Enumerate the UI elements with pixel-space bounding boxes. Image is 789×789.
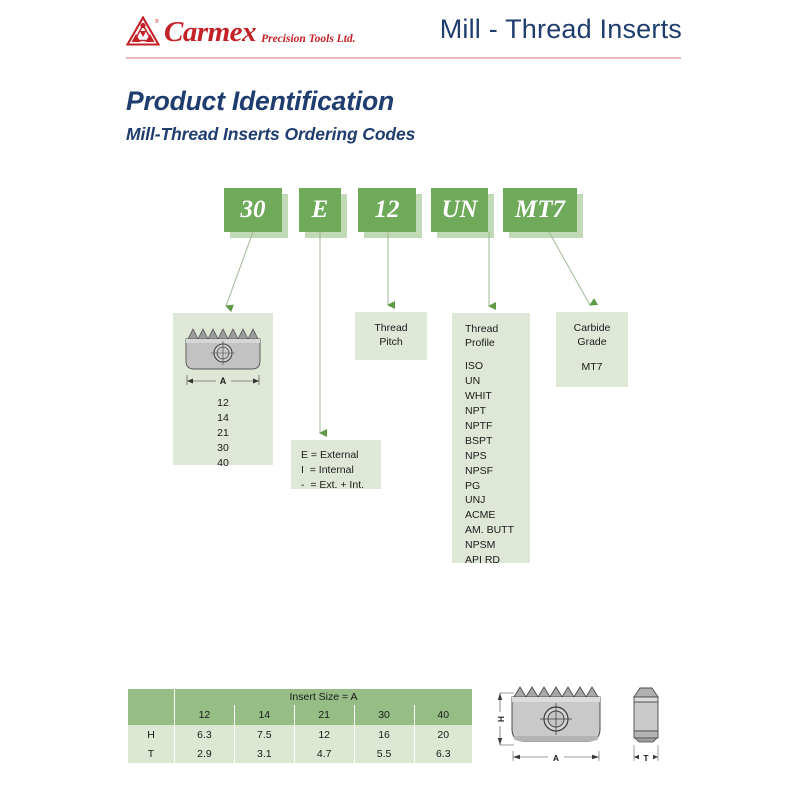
table-row-sizes: 12 14 21 30 40	[128, 705, 472, 725]
insert-size-option: 12	[173, 396, 273, 411]
table-cell: 6.3	[414, 744, 472, 763]
insert-side-view-drawing-icon	[634, 688, 658, 742]
carbide-grade-title-line2: Grade	[556, 336, 628, 350]
thread-profile-option: NPTF	[465, 419, 530, 434]
svg-text:A: A	[220, 376, 227, 386]
external-internal-line: - = Ext. + Int.	[301, 478, 381, 493]
table-cell: 2.9	[175, 744, 235, 763]
brand-name: Carmex	[164, 18, 256, 47]
table-cell: 5.5	[354, 744, 414, 763]
svg-text:®: ®	[155, 18, 159, 25]
carbide-grade-value: MT7	[556, 360, 628, 375]
table-corner-cell	[128, 689, 175, 705]
code-segment-insert-size[interactable]: 30	[224, 188, 282, 232]
thread-profile-option: PG	[465, 479, 530, 494]
table-size-header: 12	[175, 705, 235, 725]
panel-thread-profile: Thread Profile ISO UN WHIT NPT NPTF BSPT…	[452, 313, 530, 563]
thread-profile-title-line2: Profile	[465, 337, 530, 351]
table-row: T 2.9 3.1 4.7 5.5 6.3	[128, 744, 472, 763]
insert-size-option: 14	[173, 411, 273, 426]
thread-profile-option: NPSM	[465, 538, 530, 553]
insert-size-option: 21	[173, 426, 273, 441]
thread-profile-option: BSPT	[465, 434, 530, 449]
dimension-label-thickness: T	[643, 753, 649, 763]
thread-profile-option: NPS	[465, 449, 530, 464]
external-internal-line: I = Internal	[301, 463, 381, 478]
table-cell: 6.3	[175, 725, 235, 744]
thread-profile-option: UNJ	[465, 493, 530, 508]
page-title: Product Identification	[126, 86, 394, 117]
thread-profile-option: WHIT	[465, 389, 530, 404]
panel-insert-size: A 12 14 21 30 40	[173, 313, 273, 465]
table-cell: 12	[294, 725, 354, 744]
table-corner-cell-2	[128, 705, 175, 725]
insert-size-options: 12 14 21 30 40	[173, 396, 273, 471]
page-subtitle: Mill-Thread Inserts Ordering Codes	[126, 124, 415, 145]
carmex-triangle-logo-icon: ®	[126, 16, 160, 47]
brand-tagline: Precision Tools Ltd.	[261, 34, 355, 46]
table-span-header: Insert Size = A	[175, 689, 473, 705]
table-cell: 20	[414, 725, 472, 744]
code-segment-external-internal[interactable]: E	[299, 188, 341, 232]
thread-profile-option: NPSF	[465, 464, 530, 479]
external-internal-line: E = External	[301, 448, 381, 463]
code-segment-thread-pitch[interactable]: 12	[358, 188, 416, 232]
thread-profile-option: UN	[465, 374, 530, 389]
page-header: ® Carmex Precision Tools Ltd. Mill - Thr…	[0, 0, 789, 58]
thread-profile-option: ACME	[465, 508, 530, 523]
dimension-label-width: A	[553, 753, 559, 763]
header-divider	[126, 57, 681, 59]
page-header-title: Mill - Thread Inserts	[440, 14, 682, 45]
carbide-grade-title-line1: Carbide	[556, 322, 628, 336]
table-cell: 4.7	[294, 744, 354, 763]
thread-pitch-title-line1: Thread	[374, 322, 407, 336]
dimension-table: Insert Size = A 12 14 21 30 40 H 6.3 7.5…	[128, 689, 472, 763]
mill-thread-insert-front-view-icon: A	[180, 323, 267, 389]
insert-size-option: 40	[173, 456, 273, 471]
thread-pitch-title-line2: Pitch	[374, 336, 407, 350]
dimension-label-height: H	[496, 716, 506, 722]
dimension-width: A	[513, 750, 599, 764]
insert-front-view-drawing-icon	[512, 687, 600, 741]
code-segment-carbide-grade[interactable]: MT7	[503, 188, 577, 232]
insert-size-option: 30	[173, 441, 273, 456]
thread-profile-option: AM. BUTT	[465, 523, 530, 538]
table-size-header: 30	[354, 705, 414, 725]
thread-profile-option: API RD	[465, 553, 530, 568]
table-size-header: 14	[234, 705, 294, 725]
table-cell: 16	[354, 725, 414, 744]
table-row-span-header: Insert Size = A	[128, 689, 472, 705]
thread-profile-options: ISO UN WHIT NPT NPTF BSPT NPS NPSF PG UN…	[465, 359, 530, 568]
connector-lines	[0, 0, 789, 789]
thread-profile-title-line1: Thread	[465, 323, 530, 337]
table-size-header: 21	[294, 705, 354, 725]
dimension-thickness: T	[634, 745, 658, 764]
dimension-height: H	[495, 693, 514, 745]
table-cell: 7.5	[234, 725, 294, 744]
technical-drawings: H A T	[484, 683, 674, 779]
table-row: H 6.3 7.5 12 16 20	[128, 725, 472, 744]
panel-carbide-grade: Carbide Grade MT7	[556, 312, 628, 387]
thread-profile-option: NPT	[465, 404, 530, 419]
code-segment-thread-profile[interactable]: UN	[431, 188, 488, 232]
table-row-label: H	[128, 725, 175, 744]
table-size-header: 40	[414, 705, 472, 725]
brand-logo: ® Carmex Precision Tools Ltd.	[126, 16, 356, 47]
panel-thread-pitch: Thread Pitch	[355, 312, 427, 360]
table-row-label: T	[128, 744, 175, 763]
thread-profile-option: ISO	[465, 359, 530, 374]
table-cell: 3.1	[234, 744, 294, 763]
panel-external-internal: E = External I = Internal - = Ext. + Int…	[291, 440, 381, 489]
